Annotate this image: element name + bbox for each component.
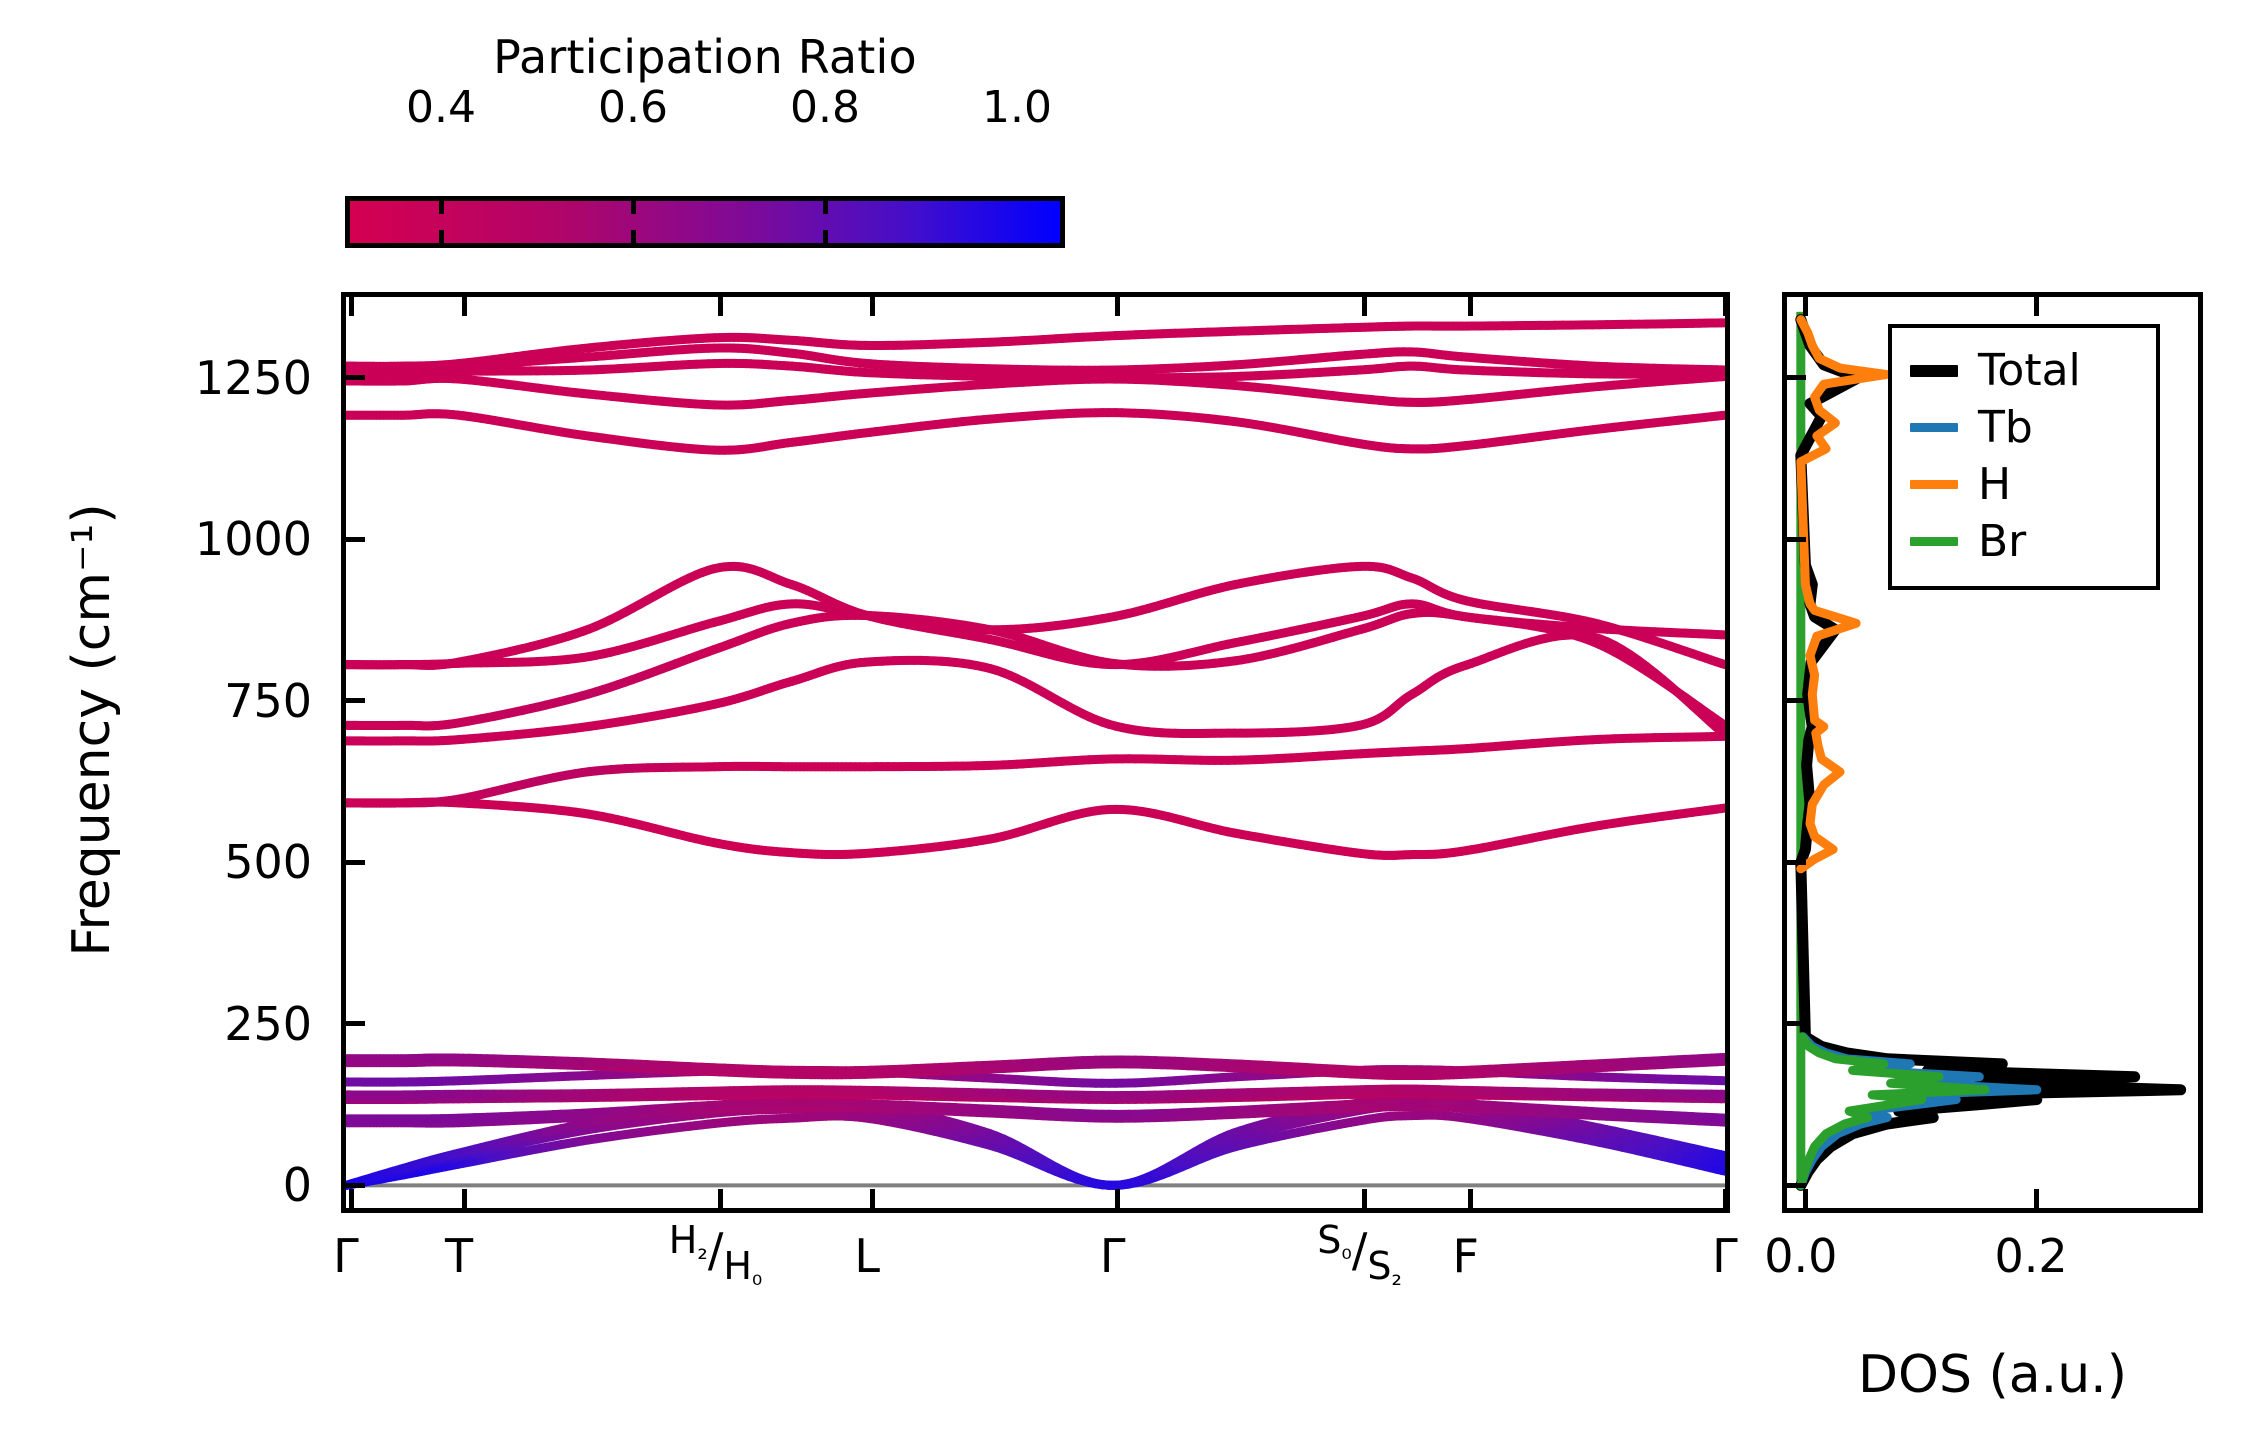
dos-legend: TotalTbHBr bbox=[1888, 324, 2160, 590]
y-axis-tick-mark bbox=[346, 698, 365, 703]
x-axis-tick-mark bbox=[870, 1189, 875, 1208]
x-axis-tick-label: Γ bbox=[1100, 1233, 1126, 1279]
y-axis-tick-label: 500 bbox=[224, 835, 312, 889]
colorbar-gradient bbox=[350, 201, 1060, 243]
colorbar-tick-label: 0.4 bbox=[406, 82, 476, 133]
y-axis-tick-label: 1000 bbox=[195, 512, 312, 566]
y-axis-tick-label: 250 bbox=[224, 997, 312, 1051]
dos-x-axis-tick-mark bbox=[1803, 297, 1808, 316]
band-structure-plot bbox=[346, 297, 1725, 1208]
x-axis-tick-mark bbox=[1468, 297, 1473, 316]
dos-x-axis-label: DOS (a.u.) bbox=[1782, 1345, 2203, 1405]
legend-label: H bbox=[1978, 463, 2011, 507]
x-axis-tick-label: Γ bbox=[1712, 1233, 1738, 1279]
band-curve bbox=[346, 802, 1725, 855]
dos-x-axis-tick-mark bbox=[1803, 1189, 1808, 1208]
colorbar-tick-label: 0.6 bbox=[598, 82, 668, 133]
legend-item: Br bbox=[1910, 513, 2138, 570]
x-axis-tick-label: F bbox=[1453, 1233, 1479, 1279]
legend-swatch bbox=[1910, 423, 1958, 432]
colorbar-tick-mark bbox=[439, 201, 444, 214]
x-axis-tick-mark bbox=[1115, 297, 1120, 316]
y-axis-tick-mark bbox=[346, 860, 365, 865]
y-axis-tick-mark bbox=[346, 1183, 365, 1188]
band-curve bbox=[346, 1115, 1725, 1185]
dos-x-axis-tick-labels: 0.00.2 bbox=[1782, 1227, 2203, 1297]
x-axis-tick-label: L bbox=[854, 1233, 880, 1279]
band-curve bbox=[346, 413, 1725, 451]
colorbar bbox=[345, 196, 1065, 248]
dos-y-axis-tick-mark bbox=[1787, 698, 1806, 703]
dos-x-axis-tick-label: 0.0 bbox=[1764, 1233, 1837, 1279]
x-axis-tick-mark bbox=[1723, 297, 1728, 316]
legend-item: Total bbox=[1910, 342, 2138, 399]
colorbar-tick-labels: 0.40.60.81.0 bbox=[345, 82, 1065, 128]
legend-swatch bbox=[1910, 537, 1958, 546]
x-axis-tick-label: S₀/S₂ bbox=[1317, 1227, 1402, 1273]
y-axis-tick-label: 1250 bbox=[195, 351, 312, 405]
x-axis-tick-label: H₂/H₀ bbox=[669, 1227, 763, 1273]
dos-x-axis-tick-mark bbox=[2034, 297, 2039, 316]
colorbar-tick-label: 1.0 bbox=[982, 82, 1052, 133]
y-axis-tick-label: 0 bbox=[283, 1158, 312, 1212]
dos-y-axis-tick-mark bbox=[1787, 860, 1806, 865]
x-axis-tick-mark bbox=[718, 297, 723, 316]
x-axis-tick-mark bbox=[1723, 1189, 1728, 1208]
y-axis-tick-mark bbox=[346, 375, 365, 380]
x-axis-tick-mark bbox=[1362, 1189, 1367, 1208]
band-curve bbox=[346, 736, 1725, 803]
colorbar-tick-mark bbox=[823, 201, 828, 214]
x-axis-tick-label: Γ bbox=[333, 1233, 359, 1279]
dos-y-axis-tick-mark bbox=[1787, 375, 1806, 380]
x-axis-tick-mark bbox=[462, 297, 467, 316]
dos-y-axis-tick-mark bbox=[1787, 537, 1806, 542]
colorbar-title: Participation Ratio bbox=[345, 30, 1065, 84]
colorbar-tick-mark bbox=[631, 230, 636, 243]
dos-x-axis-tick-label: 0.2 bbox=[1994, 1233, 2067, 1279]
dos-x-axis-tick-mark bbox=[2034, 1189, 2039, 1208]
legend-label: Total bbox=[1978, 349, 2081, 393]
colorbar-tick-mark bbox=[631, 201, 636, 214]
legend-label: Tb bbox=[1978, 406, 2033, 450]
band-curve bbox=[346, 1089, 1725, 1095]
x-axis-tick-mark bbox=[462, 1189, 467, 1208]
x-axis-tick-label: T bbox=[445, 1233, 473, 1279]
dos-y-axis-tick-mark bbox=[1787, 1021, 1806, 1026]
legend-swatch bbox=[1910, 365, 1958, 377]
colorbar-tick-mark bbox=[823, 230, 828, 243]
y-axis-tick-mark bbox=[346, 537, 365, 542]
y-axis-tick-labels: 025050075010001250 bbox=[90, 0, 312, 1455]
legend-item: H bbox=[1910, 456, 2138, 513]
legend-item: Tb bbox=[1910, 399, 2138, 456]
band-curves bbox=[346, 297, 1725, 1208]
dos-y-axis-tick-mark bbox=[1787, 1183, 1806, 1188]
y-axis-tick-label: 750 bbox=[224, 674, 312, 728]
colorbar-tick-mark bbox=[439, 230, 444, 243]
band-structure-panel bbox=[341, 292, 1730, 1213]
x-axis-tick-mark bbox=[1115, 1189, 1120, 1208]
x-axis-tick-mark bbox=[349, 297, 354, 316]
y-axis-tick-mark bbox=[346, 1021, 365, 1026]
legend-label: Br bbox=[1978, 520, 2026, 564]
band-x-axis-tick-labels: ΓTH₂/H₀LΓS₀/S₂FΓ bbox=[341, 1227, 1730, 1367]
x-axis-tick-mark bbox=[870, 297, 875, 316]
x-axis-tick-mark bbox=[349, 1189, 354, 1208]
x-axis-tick-mark bbox=[1468, 1189, 1473, 1208]
legend-swatch bbox=[1910, 480, 1958, 489]
x-axis-tick-mark bbox=[1362, 297, 1367, 316]
colorbar-tick-label: 0.8 bbox=[790, 82, 860, 133]
x-axis-tick-mark bbox=[718, 1189, 723, 1208]
